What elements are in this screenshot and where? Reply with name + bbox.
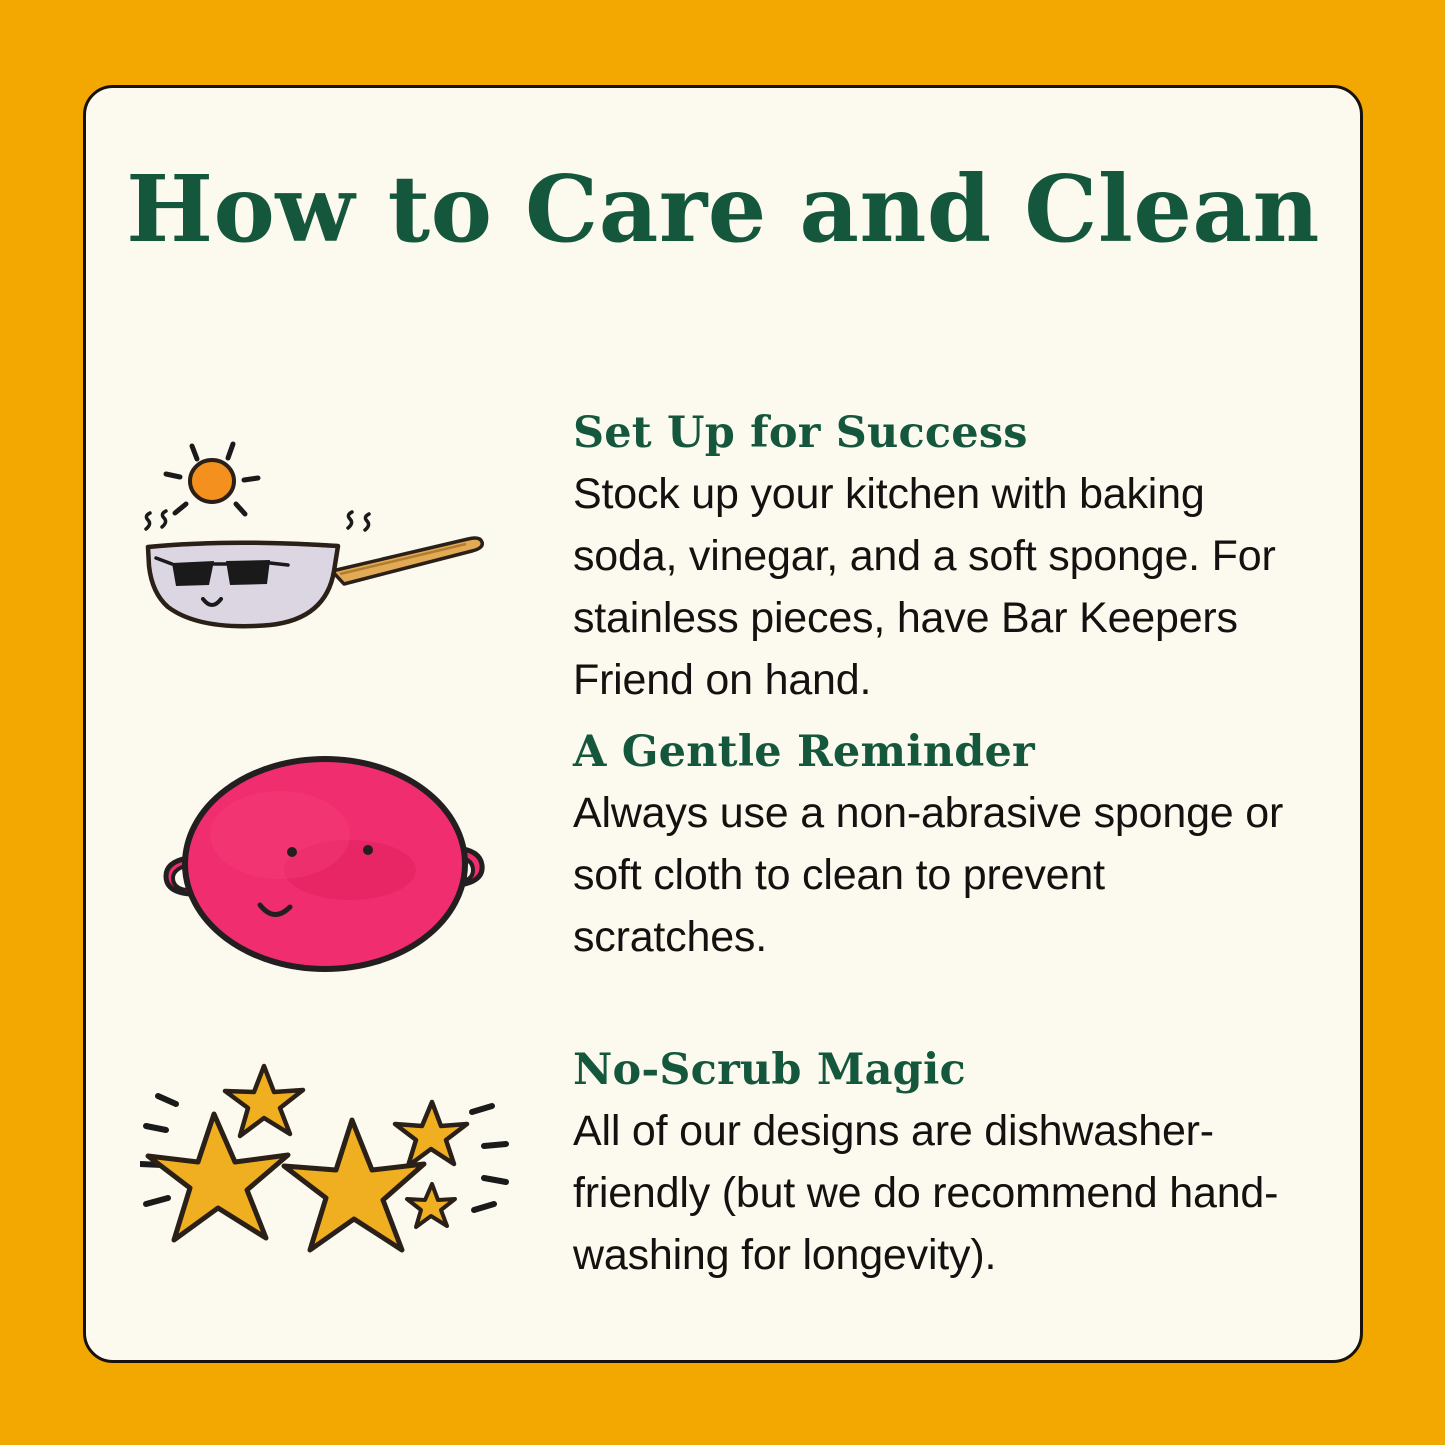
illustration-pink-sponge — [86, 730, 573, 990]
sparkling-stars-icon — [140, 1058, 520, 1278]
info-card: How to Care and Clean — [83, 85, 1363, 1363]
section-a-gentle-reminder: A Gentle Reminder Always use a non-abras… — [86, 730, 1360, 1030]
section-body: Stock up your kitchen with baking soda, … — [573, 464, 1303, 712]
section-heading: A Gentle Reminder — [573, 730, 1306, 775]
poster-page: How to Care and Clean — [0, 0, 1445, 1445]
illustration-frying-pan — [86, 411, 573, 671]
section-set-up-for-success: Set Up for Success Stock up your kitchen… — [86, 411, 1360, 712]
section-text-a-gentle-reminder: A Gentle Reminder Always use a non-abras… — [573, 730, 1360, 969]
section-body: Always use a non-abrasive sponge or soft… — [573, 783, 1303, 969]
frying-pan-with-sunglasses-and-sun-icon — [130, 421, 530, 671]
illustration-stars — [86, 1048, 573, 1278]
section-text-set-up-for-success: Set Up for Success Stock up your kitchen… — [573, 411, 1360, 712]
page-title: How to Care and Clean — [86, 163, 1360, 255]
section-no-scrub-magic: No-Scrub Magic All of our designs are di… — [86, 1048, 1360, 1348]
section-heading: Set Up for Success — [573, 411, 1306, 456]
sections-list: Set Up for Success Stock up your kitchen… — [86, 333, 1360, 1348]
section-heading: No-Scrub Magic — [573, 1048, 1306, 1093]
section-body: All of our designs are dishwasher-friend… — [573, 1101, 1303, 1287]
section-text-no-scrub-magic: No-Scrub Magic All of our designs are di… — [573, 1048, 1360, 1287]
pink-sponge-face-icon — [140, 740, 520, 990]
